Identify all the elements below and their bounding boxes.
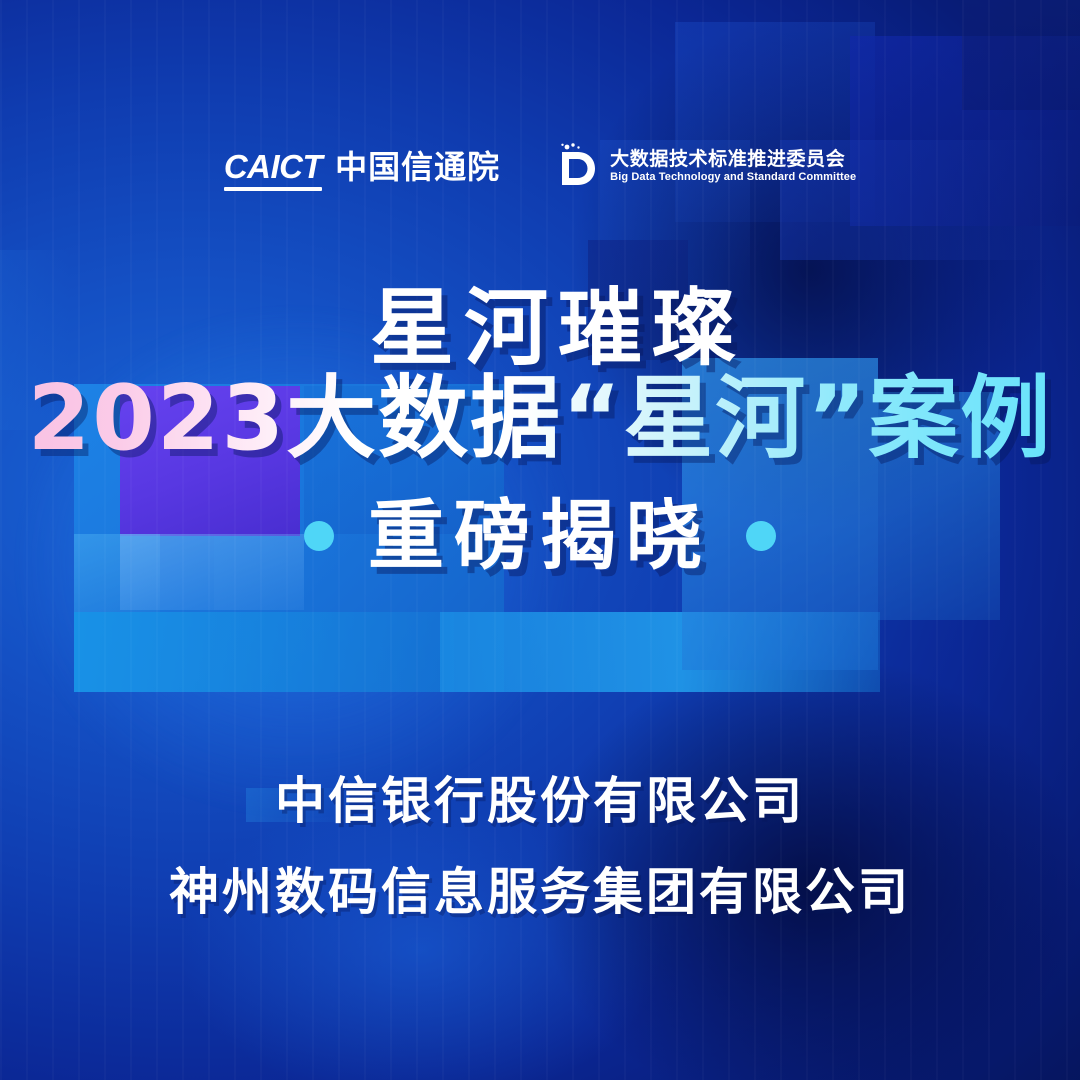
caict-underline — [224, 187, 322, 191]
caict-logo: CAICT 中国信通院 — [224, 150, 500, 183]
caict-wordmark-text: CAICT — [224, 148, 322, 185]
logo-bar: CAICT 中国信通院 大数据技术标准推进委员会 Big Data Techno… — [0, 138, 1080, 194]
bullet-dot-left-icon — [304, 521, 334, 551]
big-data-committee-logo: 大数据技术标准推进委员会 Big Data Technology and Sta… — [554, 143, 856, 189]
poster-canvas: CAICT 中国信通院 大数据技术标准推进委员会 Big Data Techno… — [0, 0, 1080, 1080]
headline-group: 星河璀璨 2023大数据“星河”案例 重磅揭晓 — [0, 284, 1080, 576]
headline-line-3: 重磅揭晓 — [368, 496, 712, 576]
letter-d-icon — [554, 143, 598, 189]
winner-row: 神州数码信息服务集团有限公司 — [0, 859, 1080, 926]
headline-line-2: 2023大数据“星河”案例 — [0, 369, 1080, 470]
winner-row: 中信银行股份有限公司 — [0, 768, 1080, 835]
bullet-dot-right-icon — [746, 521, 776, 551]
headline-line-3-row: 重磅揭晓 — [0, 496, 1080, 576]
big-data-committee-text: 大数据技术标准推进委员会 Big Data Technology and Sta… — [610, 150, 856, 183]
caict-chinese-name: 中国信通院 — [335, 151, 500, 183]
headline-line-1: 星河璀璨 — [36, 284, 1080, 373]
bdt-english-name: Big Data Technology and Standard Committ… — [610, 172, 856, 183]
winner-list: 中信银行股份有限公司 神州数码信息服务集团有限公司 — [0, 768, 1080, 926]
winner-name: 神州数码信息服务集团有限公司 — [155, 859, 925, 926]
winner-name: 中信银行股份有限公司 — [261, 768, 819, 835]
bdt-chinese-name: 大数据技术标准推进委员会 — [610, 150, 856, 169]
caict-wordmark-icon: CAICT — [224, 150, 322, 183]
